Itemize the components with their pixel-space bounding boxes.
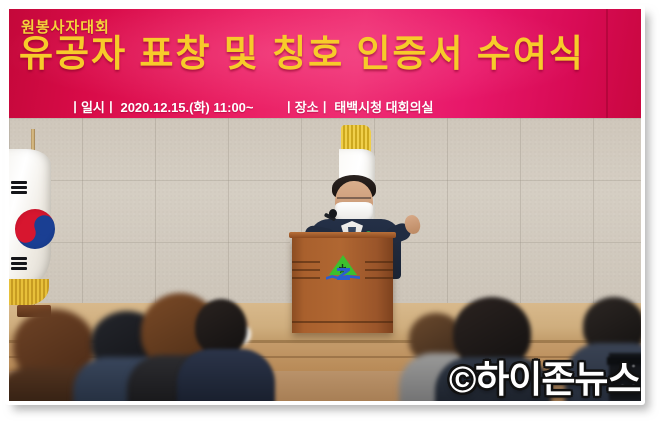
banner-date-value: 2020.12.15.(화) 11:00~ [120,100,253,115]
event-banner: 원봉사자대회 유공자 표창 및 칭호 인증서 수여식 ㅣ일시ㅣ 2020.12.… [9,9,641,118]
banner-place-label: ㅣ장소ㅣ [283,100,331,115]
podium-groove [292,321,393,323]
podium-groove [292,269,320,271]
podium-groove [365,261,393,263]
podium-groove [365,277,393,279]
wooden-podium [292,237,393,333]
trigram-bottom [11,257,27,272]
podium-groove [292,261,320,263]
news-photo: 원봉사자대회 유공자 표창 및 칭호 인증서 수여식 ㅣ일시ㅣ 2020.12.… [9,9,641,401]
trigram-top [11,181,27,196]
banner-title: 유공자 표창 및 칭호 인증서 수여식 [19,35,641,72]
banner-date-label: ㅣ일시ㅣ [69,100,117,115]
copyright-watermark: ©하이존뉴스 [449,361,640,398]
microphone-icon [329,209,337,218]
flag-fringe [9,279,49,305]
podium-top-edge [289,232,396,238]
audience-head [195,299,247,355]
banner-subline: ㅣ일시ㅣ 2020.12.15.(화) 11:00~ ㅣ장소ㅣ 태백시청 대회의… [69,97,434,116]
taebaek-city-emblem-icon [326,255,360,283]
photo-frame: 원봉사자대회 유공자 표창 및 칭호 인증서 수여식 ㅣ일시ㅣ 2020.12.… [5,5,645,405]
audience-body [177,349,275,401]
korean-national-flag-icon [9,129,65,314]
banner-place-value: 태백시청 대회의실 [334,100,433,115]
audience-person-masked [175,297,271,401]
podium-groove [365,269,393,271]
podium-groove [292,277,320,279]
